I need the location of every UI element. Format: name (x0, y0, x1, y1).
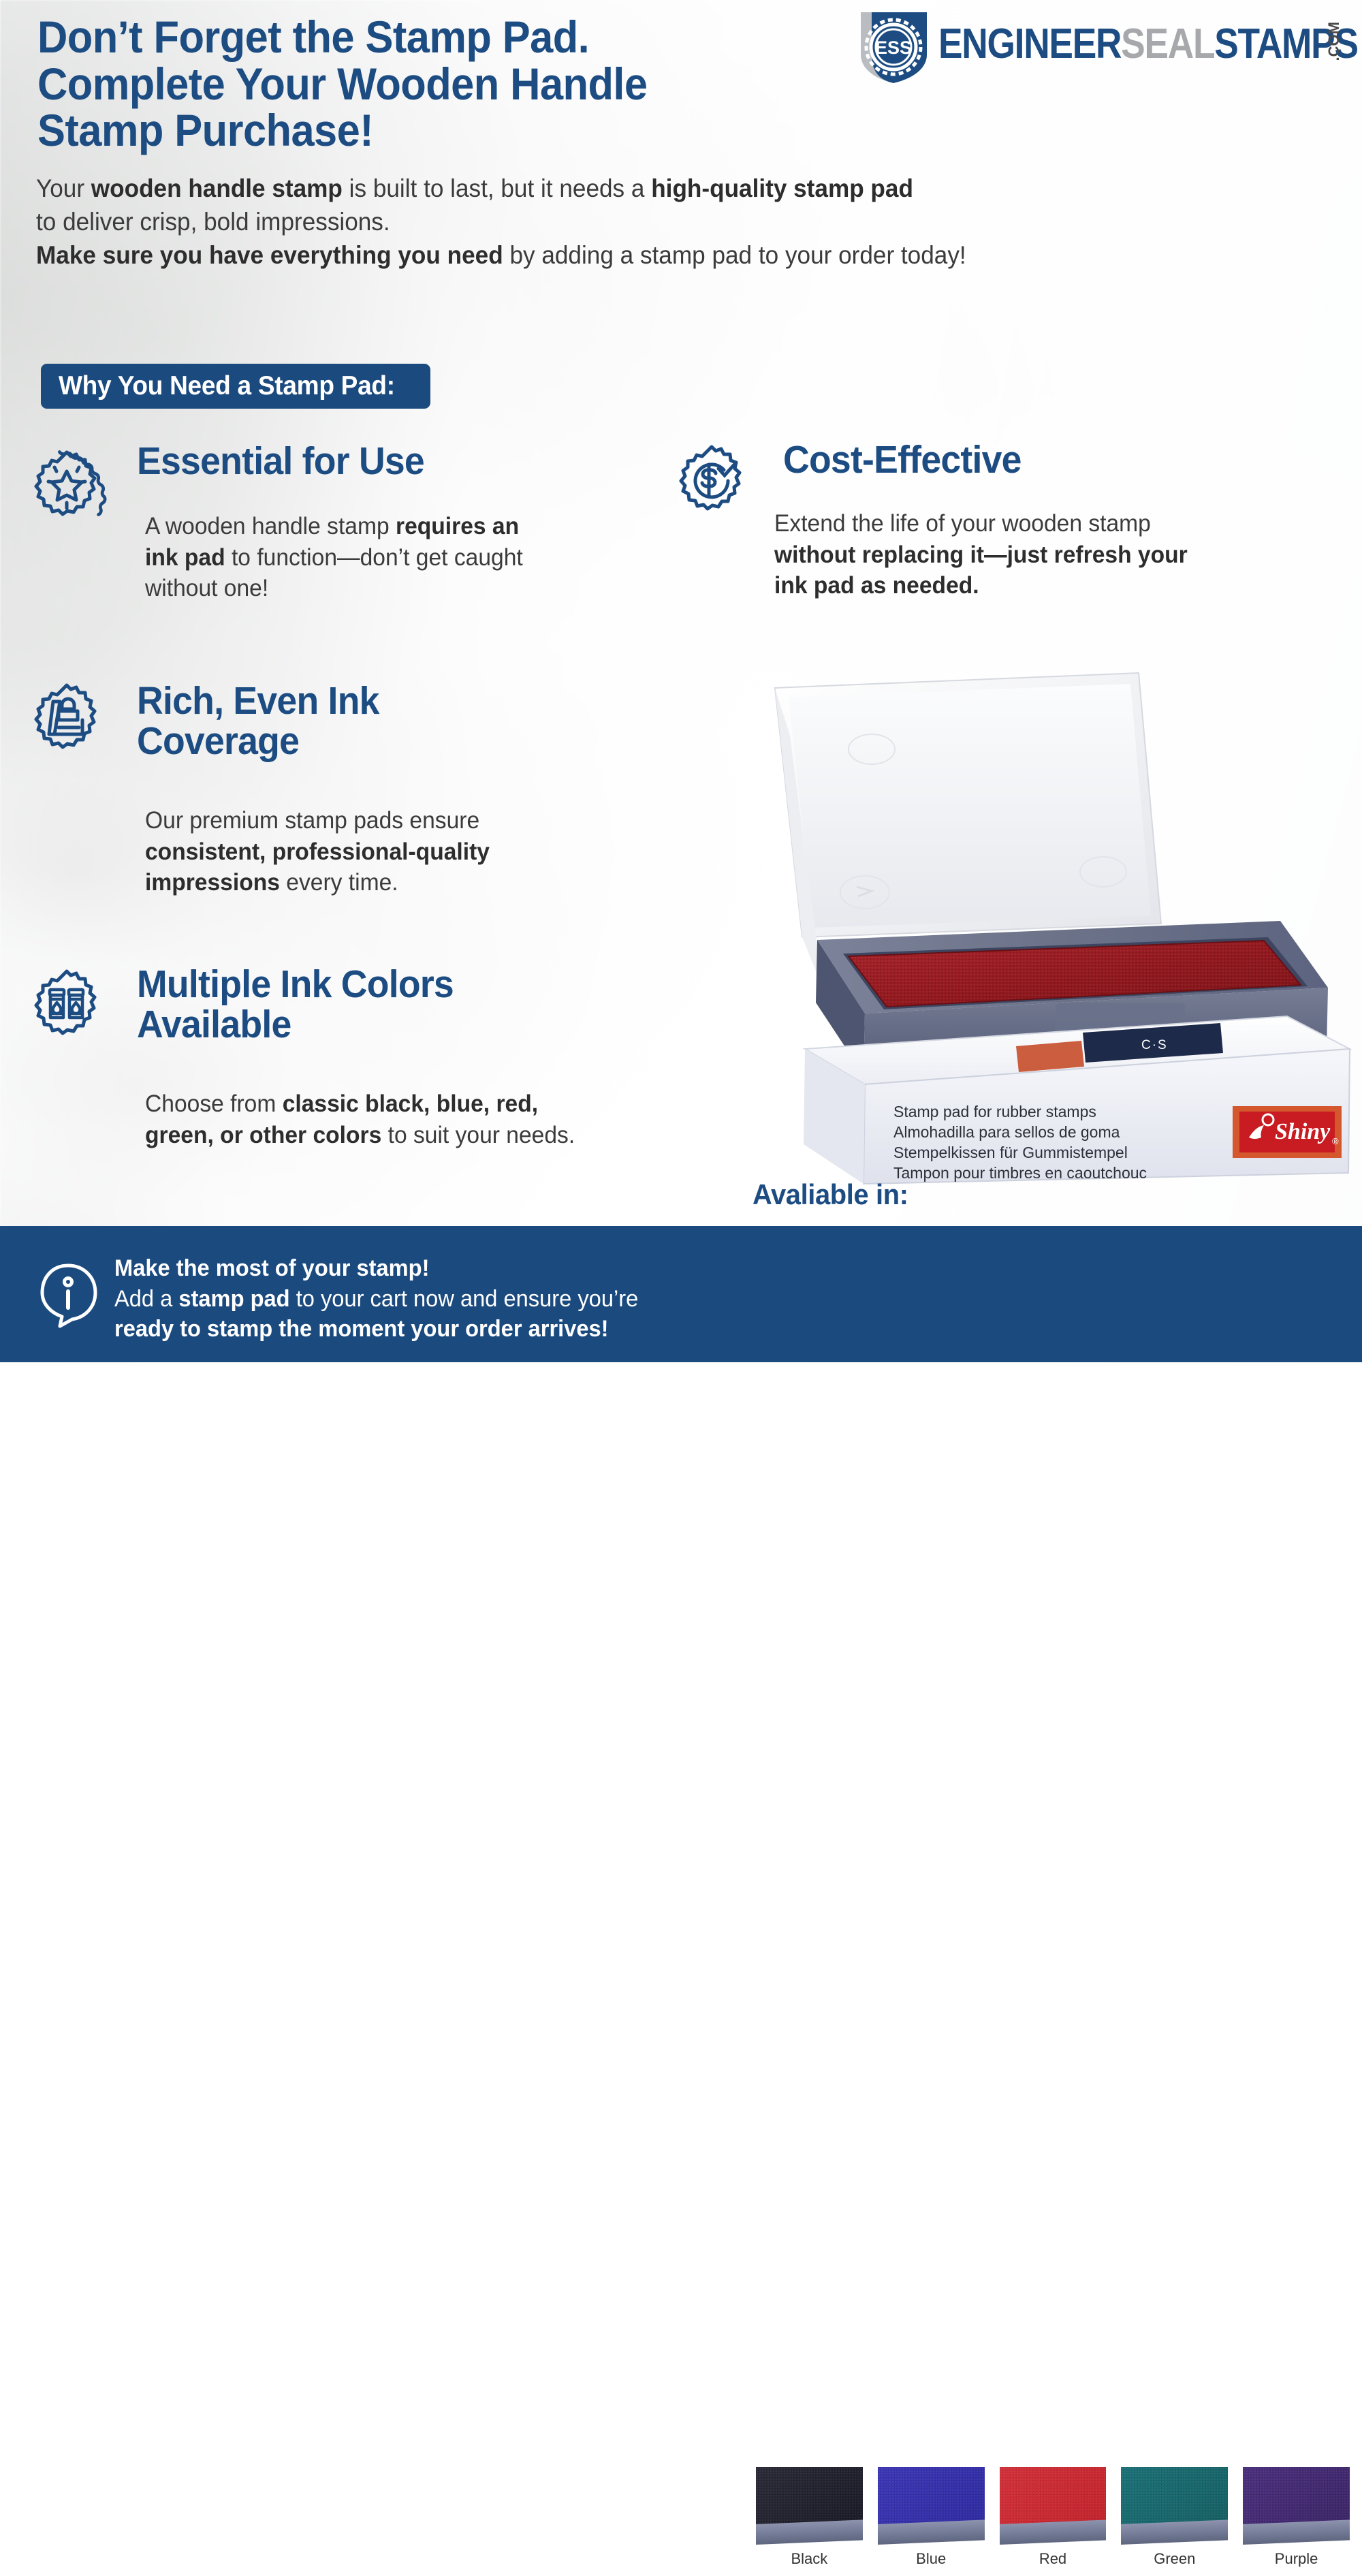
ess-initials: ESS (875, 37, 912, 58)
footer-line-1: Make the most of your stamp! (114, 1253, 703, 1284)
footer-line-3: ready to stamp the moment your order arr… (114, 1314, 703, 1345)
swatch-case-edge (1243, 2520, 1350, 2545)
footer-line-2: Add a stamp pad to your cart now and ens… (114, 1284, 703, 1315)
swatch-ink (1243, 2467, 1350, 2528)
swatch-case-edge (756, 2520, 863, 2545)
headline-line-2: Complete Your Wooden Handle (37, 61, 817, 108)
swatch-case-edge (878, 2520, 985, 2545)
swatch-label: Red (1000, 2545, 1107, 2573)
swatch-label: Green (1121, 2545, 1228, 2573)
swatch-image (1121, 2467, 1228, 2545)
logo-wordmark: ENGINEERSEALSTAMPS (938, 23, 1358, 65)
intro-paragraph: Your wooden handle stamp is built to las… (36, 172, 955, 272)
swatch-black[interactable]: Black (753, 2464, 866, 2576)
header: Don’t Forget the Stamp Pad. Complete You… (0, 0, 1362, 170)
swatch-ink (1121, 2467, 1228, 2528)
headline-line-3: Stamp Purchase! (37, 107, 817, 154)
page-title: Don’t Forget the Stamp Pad. Complete You… (37, 14, 817, 154)
box-code: C·S (1141, 1038, 1168, 1052)
shiny-wordmark: Shiny (1275, 1119, 1331, 1144)
logo-word-seal: SEAL (1121, 20, 1214, 67)
swatch-ink (756, 2467, 863, 2528)
brand-logo[interactable]: ESS ENGINEERSEALSTAMPS .COM (851, 10, 1342, 86)
star-badge-icon (26, 448, 108, 530)
box-text-es: Almohadilla para sellos de goma (893, 1123, 1120, 1141)
swatch-image (878, 2467, 985, 2545)
swatch-label: Purple (1243, 2545, 1350, 2573)
intro-line-3: Make sure you have everything you need b… (36, 238, 955, 272)
rubber-stamp-badge-icon (26, 681, 108, 763)
feature-body: Choose from classic black, blue, red, gr… (145, 1088, 596, 1150)
swatch-image (1243, 2467, 1350, 2545)
swatch-label: Black (756, 2545, 863, 2573)
swatch-image (756, 2467, 863, 2545)
footer-cta-bar: Make the most of your stamp! Add a stamp… (0, 1226, 1362, 1362)
feature-body: Our premium stamp pads ensure consistent… (145, 805, 550, 898)
intro-line-2: to deliver crisp, bold impressions. (36, 205, 955, 238)
why-banner-label: Why You Need a Stamp Pad: (59, 371, 395, 401)
feature-title: Essential for Use (137, 441, 424, 482)
feature-body: A wooden handle stamp requires an ink pa… (145, 511, 550, 604)
shiny-registered-mark: ® (1332, 1136, 1339, 1146)
infographic-page: Don’t Forget the Stamp Pad. Complete You… (0, 0, 1362, 1362)
swatch-red[interactable]: Red (997, 2464, 1109, 2576)
feature-title: Rich, Even Ink Coverage (137, 681, 379, 761)
swatch-ink (1000, 2467, 1107, 2528)
why-you-need-banner: Why You Need a Stamp Pad: (41, 364, 430, 409)
feature-title: Cost-Effective (783, 440, 1022, 480)
swatch-label: Blue (878, 2545, 985, 2573)
box-text-de: Stempelkissen für Gummistempel (893, 1144, 1128, 1161)
intro-line-1: Your wooden handle stamp is built to las… (36, 172, 955, 205)
swatch-case-edge (1121, 2520, 1228, 2545)
shiny-logo: Shiny ® (1233, 1106, 1342, 1158)
info-bubble-icon (33, 1259, 104, 1330)
ink-color-swatch-list: Black Blue Red (753, 2464, 1352, 2576)
feature-title: Multiple Ink Colors Available (137, 964, 454, 1044)
available-in-label: Avaliable in: (753, 1178, 908, 1211)
box-text-fr: Tampon pour timbres en caoutchouc (893, 1164, 1147, 1182)
dollar-check-badge-icon (671, 443, 753, 524)
box-text-en: Stamp pad for rubber stamps (893, 1103, 1096, 1120)
headline-line-1: Don’t Forget the Stamp Pad. (37, 14, 817, 61)
feature-body: Extend the life of your wooden stamp wit… (774, 508, 1304, 601)
ink-bottles-badge-icon (26, 967, 108, 1049)
swatch-case-edge (1000, 2520, 1107, 2545)
product-photo: C·S Stamp pad for rubber stamps Almohadi… (763, 667, 1362, 1185)
logo-word-engineer: ENGINEER (938, 20, 1121, 67)
swatch-ink (878, 2467, 985, 2528)
footer-text: Make the most of your stamp! Add a stamp… (114, 1253, 703, 1345)
ess-shield-gear-icon: ESS (851, 10, 936, 86)
swatch-green[interactable]: Green (1118, 2464, 1231, 2576)
swatch-purple[interactable]: Purple (1240, 2464, 1352, 2576)
swatch-blue[interactable]: Blue (875, 2464, 987, 2576)
swatch-image (1000, 2467, 1107, 2545)
logo-tld: .COM (1325, 22, 1343, 61)
